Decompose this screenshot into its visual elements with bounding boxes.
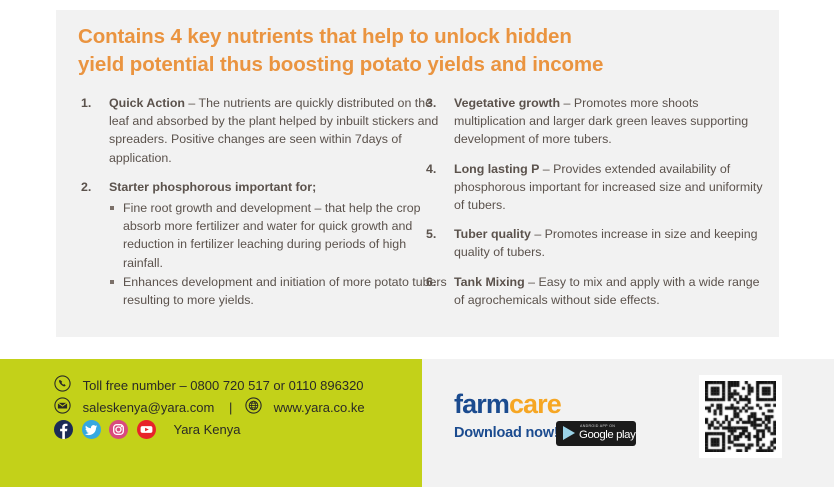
benefit-lead: Long lasting P: [454, 162, 539, 176]
contact-block: Toll free number – 0800 720 517 or 0110 …: [0, 359, 422, 487]
benefit-number: 6.: [426, 273, 436, 291]
store-badge-small-text: ANDROID APP ON: [580, 424, 615, 428]
google-play-badge[interactable]: ANDROID APP ON Google play: [556, 421, 636, 446]
youtube-icon[interactable]: [137, 420, 156, 439]
logo-word-care: care: [509, 389, 561, 419]
benefits-column-left: 1. Quick Action – The nutrients are quic…: [78, 94, 448, 320]
sublist-item: Enhances development and initiation of m…: [109, 273, 448, 309]
benefit-item-5: 5. Tuber quality – Promotes increase in …: [423, 225, 768, 261]
facebook-icon[interactable]: [54, 420, 73, 439]
twitter-icon[interactable]: [82, 420, 101, 439]
benefit-item-4: 4. Long lasting P – Provides extended av…: [423, 160, 768, 215]
benefits-column-right: 3. Vegetative growth – Promotes more sho…: [423, 94, 768, 320]
sublist-item: Fine root growth and development – that …: [109, 199, 448, 272]
separator: |: [229, 400, 232, 415]
headline-line-1: Contains 4 key nutrients that help to un…: [78, 23, 718, 51]
phone-icon: [54, 375, 71, 395]
benefit-lead: Tuber quality: [454, 227, 531, 241]
benefit-item-6: 6. Tank Mixing – Easy to mix and apply w…: [423, 273, 768, 309]
qr-code-image: [705, 381, 776, 452]
email-text[interactable]: saleskenya@yara.com: [83, 400, 215, 415]
benefit-item-1: 1. Quick Action – The nutrients are quic…: [78, 94, 448, 167]
envelope-icon: [54, 397, 71, 417]
app-promo-block: farmcare Download now! ANDROID APP ON Go…: [422, 359, 834, 487]
phone-text: Toll free number – 0800 720 517 or 0110 …: [83, 378, 364, 393]
benefit-number: 5.: [426, 225, 436, 243]
benefit-lead: Vegetative growth: [454, 96, 560, 110]
download-now-label: Download now!: [454, 425, 559, 441]
benefit-item-2: 2. Starter phosphorous important for; Fi…: [78, 178, 448, 309]
page-headline: Contains 4 key nutrients that help to un…: [78, 23, 718, 79]
globe-icon: [245, 397, 262, 417]
contact-phone-row: Toll free number – 0800 720 517 or 0110 …: [54, 375, 364, 395]
headline-line-2: yield potential thus boosting potato yie…: [78, 51, 718, 79]
benefit-lead: Tank Mixing: [454, 275, 525, 289]
logo-word-farm: farm: [454, 389, 509, 419]
benefit-lead: Quick Action: [109, 96, 185, 110]
social-handle-label: Yara Kenya: [174, 422, 241, 437]
benefit-sublist: Fine root growth and development – that …: [109, 199, 448, 309]
instagram-icon[interactable]: [109, 420, 128, 439]
store-badge-large-text: Google play: [579, 429, 635, 441]
qr-code-card[interactable]: [699, 375, 782, 458]
google-play-triangle-icon: [563, 426, 575, 440]
benefit-number: 4.: [426, 160, 436, 178]
footer-band: Toll free number – 0800 720 517 or 0110 …: [0, 359, 834, 487]
benefit-number: 3.: [426, 94, 436, 112]
contact-mail-row: saleskenya@yara.com | www.yara.co.ke: [54, 397, 365, 417]
social-row: Yara Kenya: [54, 420, 240, 439]
benefit-number: 1.: [81, 94, 91, 112]
farmcare-logo: farmcare: [454, 389, 561, 420]
website-text[interactable]: www.yara.co.ke: [274, 400, 365, 415]
benefit-lead: Starter phosphorous important for;: [109, 180, 316, 194]
info-panel: Contains 4 key nutrients that help to un…: [56, 10, 779, 337]
benefit-item-3: 3. Vegetative growth – Promotes more sho…: [423, 94, 768, 149]
benefit-number: 2.: [81, 178, 91, 196]
